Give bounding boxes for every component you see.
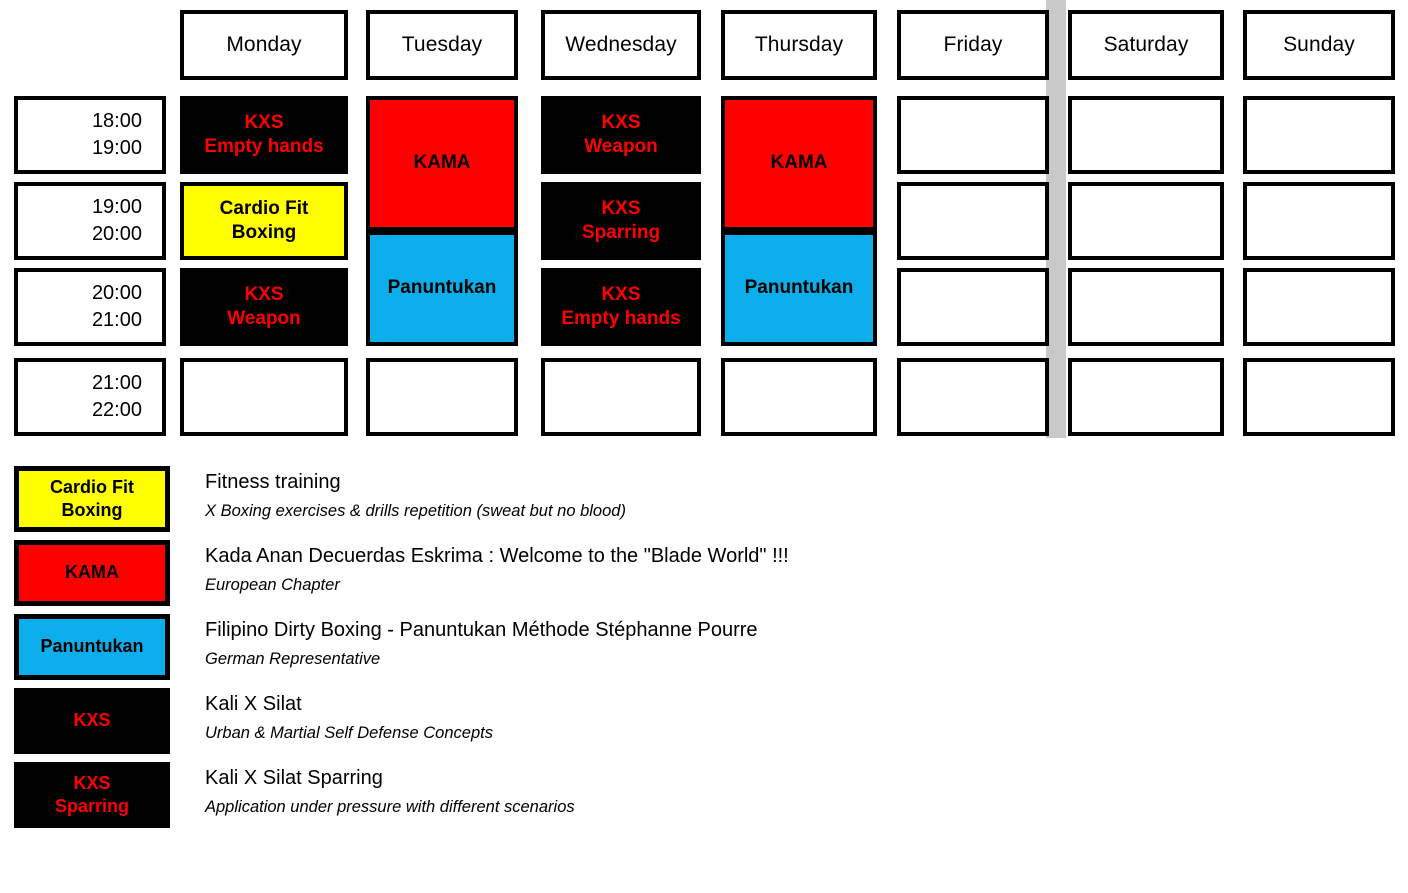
weekly-schedule-grid: Monday Tuesday Wednesday Thursday Friday… xyxy=(0,0,1408,445)
event-saturday-1800-empty[interactable] xyxy=(1068,96,1224,174)
legend-item-kxs-sparring: KXS Sparring Kali X Silat Sparring Appli… xyxy=(14,762,1408,828)
event-friday-1900-empty[interactable] xyxy=(897,182,1049,260)
event-sunday-1800-empty[interactable] xyxy=(1243,96,1395,174)
legend-subtitle: X Boxing exercises & drills repetition (… xyxy=(205,497,626,525)
legend-subtitle: Urban & Martial Self Defense Concepts xyxy=(205,719,493,747)
legend-swatch-kama: KAMA xyxy=(14,540,170,606)
legend-title: Kada Anan Decuerdas Eskrima : Welcome to… xyxy=(205,542,789,571)
legend-swatch-line1: Panuntukan xyxy=(40,635,143,658)
day-header-label: Sunday xyxy=(1283,33,1355,57)
time-slot-end: 20:00 xyxy=(92,221,142,248)
event-sunday-2100-empty[interactable] xyxy=(1243,358,1395,436)
event-line1: KXS xyxy=(601,283,640,307)
legend-text-block: Fitness training X Boxing exercises & dr… xyxy=(170,466,626,525)
legend-title: Fitness training xyxy=(205,468,626,497)
day-header-thursday: Thursday xyxy=(721,10,877,80)
legend-swatch-line1: Cardio Fit xyxy=(50,476,134,499)
event-saturday-1900-empty[interactable] xyxy=(1068,182,1224,260)
legend-title: Filipino Dirty Boxing - Panuntukan Métho… xyxy=(205,616,758,645)
event-line2: Empty hands xyxy=(561,307,680,331)
legend-text-block: Kada Anan Decuerdas Eskrima : Welcome to… xyxy=(170,540,789,599)
time-slot-end: 22:00 xyxy=(92,397,142,424)
event-line1: KAMA xyxy=(771,151,828,175)
legend-swatch-panuntukan: Panuntukan xyxy=(14,614,170,680)
event-tuesday-panuntukan[interactable]: Panuntukan xyxy=(366,231,518,346)
event-wednesday-1800[interactable]: KXS Weapon xyxy=(541,96,701,174)
event-line2: Weapon xyxy=(227,307,301,331)
time-slot-1: 18:00 19:00 xyxy=(14,96,166,174)
event-line2: Sparring xyxy=(582,221,660,245)
legend-item-kama: KAMA Kada Anan Decuerdas Eskrima : Welco… xyxy=(14,540,1408,606)
day-header-saturday: Saturday xyxy=(1068,10,1224,80)
day-header-wednesday: Wednesday xyxy=(541,10,701,80)
event-line2: Boxing xyxy=(232,221,296,245)
event-line2: Empty hands xyxy=(204,135,323,159)
event-monday-2000[interactable]: KXS Weapon xyxy=(180,268,348,346)
legend: Cardio Fit Boxing Fitness training X Box… xyxy=(0,466,1408,828)
legend-item-kxs: KXS Kali X Silat Urban & Martial Self De… xyxy=(14,688,1408,754)
weekend-divider-bar xyxy=(1046,0,1066,438)
event-tuesday-kama[interactable]: KAMA xyxy=(366,96,518,231)
event-monday-1900[interactable]: Cardio Fit Boxing xyxy=(180,182,348,260)
event-line1: Panuntukan xyxy=(745,276,854,300)
time-slot-3: 20:00 21:00 xyxy=(14,268,166,346)
legend-text-block: Kali X Silat Urban & Martial Self Defens… xyxy=(170,688,493,747)
event-wednesday-1900[interactable]: KXS Sparring xyxy=(541,182,701,260)
event-line2: Weapon xyxy=(584,135,658,159)
legend-subtitle: European Chapter xyxy=(205,571,789,599)
legend-swatch-line1: KAMA xyxy=(65,561,119,584)
day-header-label: Saturday xyxy=(1104,33,1189,57)
event-friday-2000-empty[interactable] xyxy=(897,268,1049,346)
event-line1: KAMA xyxy=(414,151,471,175)
legend-title: Kali X Silat xyxy=(205,690,493,719)
legend-swatch-kxs-sparring: KXS Sparring xyxy=(14,762,170,828)
day-header-monday: Monday xyxy=(180,10,348,80)
legend-swatch-cardio-fit-boxing: Cardio Fit Boxing xyxy=(14,466,170,532)
event-monday-1800[interactable]: KXS Empty hands xyxy=(180,96,348,174)
event-line1: KXS xyxy=(244,283,283,307)
event-tuesday-2100-empty[interactable] xyxy=(366,358,518,436)
event-friday-2100-empty[interactable] xyxy=(897,358,1049,436)
event-friday-1800-empty[interactable] xyxy=(897,96,1049,174)
event-sunday-2000-empty[interactable] xyxy=(1243,268,1395,346)
event-monday-2100-empty[interactable] xyxy=(180,358,348,436)
legend-text-block: Kali X Silat Sparring Application under … xyxy=(170,762,575,821)
time-slot-4: 21:00 22:00 xyxy=(14,358,166,436)
time-slot-start: 21:00 xyxy=(92,370,142,397)
event-thursday-2100-empty[interactable] xyxy=(721,358,877,436)
event-sunday-1900-empty[interactable] xyxy=(1243,182,1395,260)
legend-text-block: Filipino Dirty Boxing - Panuntukan Métho… xyxy=(170,614,758,673)
day-header-label: Thursday xyxy=(755,33,843,57)
day-header-tuesday: Tuesday xyxy=(366,10,518,80)
event-thursday-kama[interactable]: KAMA xyxy=(721,96,877,231)
time-slot-start: 18:00 xyxy=(92,108,142,135)
day-header-friday: Friday xyxy=(897,10,1049,80)
event-wednesday-2100-empty[interactable] xyxy=(541,358,701,436)
legend-item-panuntukan: Panuntukan Filipino Dirty Boxing - Panun… xyxy=(14,614,1408,680)
time-slot-end: 21:00 xyxy=(92,307,142,334)
event-wednesday-2000[interactable]: KXS Empty hands xyxy=(541,268,701,346)
day-header-label: Wednesday xyxy=(565,33,676,57)
legend-swatch-line1: KXS xyxy=(73,772,110,795)
legend-swatch-line2: Boxing xyxy=(62,499,123,522)
legend-subtitle: Application under pressure with differen… xyxy=(205,793,575,821)
day-header-sunday: Sunday xyxy=(1243,10,1395,80)
legend-item-cardio-fit-boxing: Cardio Fit Boxing Fitness training X Box… xyxy=(14,466,1408,532)
time-slot-start: 19:00 xyxy=(92,194,142,221)
day-header-label: Tuesday xyxy=(402,33,482,57)
legend-swatch-kxs: KXS xyxy=(14,688,170,754)
event-line1: KXS xyxy=(601,197,640,221)
event-saturday-2000-empty[interactable] xyxy=(1068,268,1224,346)
time-slot-start: 20:00 xyxy=(92,280,142,307)
day-header-label: Monday xyxy=(226,33,301,57)
day-header-label: Friday xyxy=(944,33,1003,57)
legend-swatch-line2: Sparring xyxy=(55,795,129,818)
event-line1: Cardio Fit xyxy=(220,197,309,221)
event-thursday-panuntukan[interactable]: Panuntukan xyxy=(721,231,877,346)
time-slot-end: 19:00 xyxy=(92,135,142,162)
time-slot-2: 19:00 20:00 xyxy=(14,182,166,260)
legend-subtitle: German Representative xyxy=(205,645,758,673)
legend-swatch-line1: KXS xyxy=(73,709,110,732)
event-line1: Panuntukan xyxy=(388,276,497,300)
event-saturday-2100-empty[interactable] xyxy=(1068,358,1224,436)
event-line1: KXS xyxy=(601,111,640,135)
legend-title: Kali X Silat Sparring xyxy=(205,764,575,793)
event-line1: KXS xyxy=(244,111,283,135)
